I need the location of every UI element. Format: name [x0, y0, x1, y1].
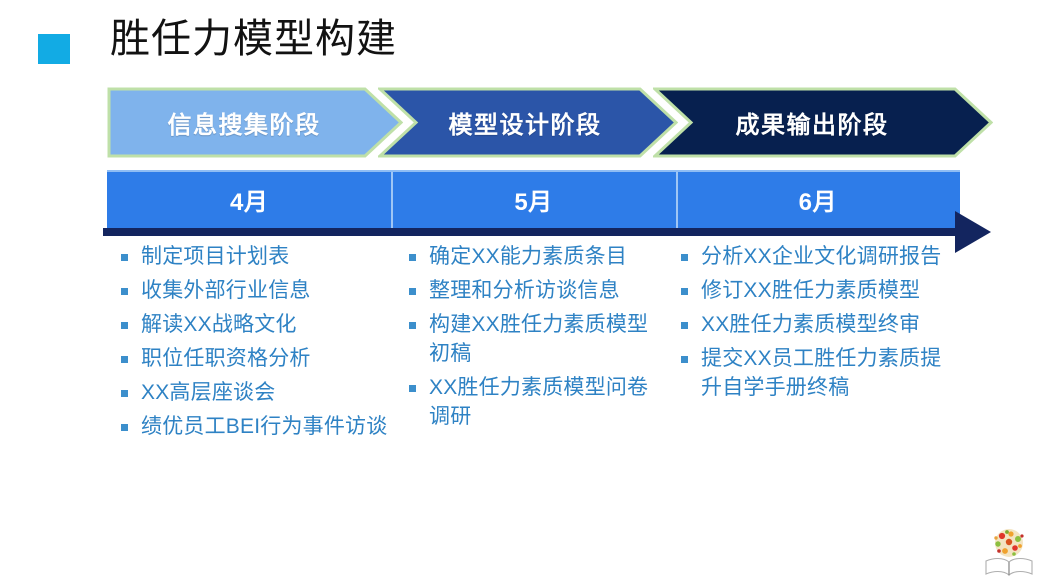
list-item: 修订XX胜任力素质模型	[677, 276, 943, 305]
month-cell-1[interactable]: 4月	[107, 170, 391, 228]
task-column-3: 分析XX企业文化调研报告 修订XX胜任力素质模型 XX胜任力素质模型终审 提交X…	[677, 242, 943, 407]
phase-chevron-band: 信息搜集阶段 模型设计阶段 成果输出阶段	[107, 87, 993, 158]
task-column-1: 制定项目计划表 收集外部行业信息 解读XX战略文化 职位任职资格分析 XX高层座…	[117, 242, 389, 446]
list-item: 绩优员工BEI行为事件访谈	[117, 412, 389, 441]
month-cell-2[interactable]: 5月	[391, 170, 675, 228]
task-list-1: 制定项目计划表 收集外部行业信息 解读XX战略文化 职位任职资格分析 XX高层座…	[117, 242, 389, 441]
list-item: XX高层座谈会	[117, 378, 389, 407]
phase-chevron-1-label: 信息搜集阶段	[168, 105, 321, 140]
task-columns: 制定项目计划表 收集外部行业信息 解读XX战略文化 职位任职资格分析 XX高层座…	[107, 242, 993, 512]
task-list-3: 分析XX企业文化调研报告 修订XX胜任力素质模型 XX胜任力素质模型终审 提交X…	[677, 242, 943, 402]
phase-chevron-2[interactable]: 模型设计阶段	[378, 87, 678, 158]
title-marker-square	[38, 34, 70, 64]
list-item: XX胜任力素质模型问卷调研	[405, 373, 663, 431]
list-item: 分析XX企业文化调研报告	[677, 242, 943, 271]
list-item: 制定项目计划表	[117, 242, 389, 271]
month-label-1: 4月	[230, 182, 268, 217]
list-item: 构建XX胜任力素质模型初稿	[405, 310, 663, 368]
list-item: XX胜任力素质模型终审	[677, 310, 943, 339]
list-item: 收集外部行业信息	[117, 276, 389, 305]
list-item: 提交XX员工胜任力素质提升自学手册终稿	[677, 344, 943, 402]
month-label-2: 5月	[514, 182, 552, 217]
list-item: 解读XX战略文化	[117, 310, 389, 339]
timeline-month-bar: 4月 5月 6月	[107, 170, 960, 228]
phase-chevron-2-label: 模型设计阶段	[449, 105, 602, 140]
month-cell-3[interactable]: 6月	[676, 170, 960, 228]
list-item: 确定XX能力素质条目	[405, 242, 663, 271]
slide-header: 胜任力模型构建	[0, 0, 1053, 80]
task-column-2: 确定XX能力素质条目 整理和分析访谈信息 构建XX胜任力素质模型初稿 XX胜任力…	[405, 242, 663, 436]
list-item: 整理和分析访谈信息	[405, 276, 663, 305]
task-list-2: 确定XX能力素质条目 整理和分析访谈信息 构建XX胜任力素质模型初稿 XX胜任力…	[405, 242, 663, 431]
phase-chevron-3-label: 成果输出阶段	[736, 105, 889, 140]
list-item: 职位任职资格分析	[117, 344, 389, 373]
phase-chevron-3[interactable]: 成果输出阶段	[653, 87, 993, 158]
phase-chevron-1[interactable]: 信息搜集阶段	[107, 87, 403, 158]
page-title: 胜任力模型构建	[110, 13, 397, 65]
month-label-3: 6月	[799, 182, 837, 217]
book-tree-logo-icon	[981, 524, 1037, 580]
timeline-axis-line	[103, 228, 969, 236]
